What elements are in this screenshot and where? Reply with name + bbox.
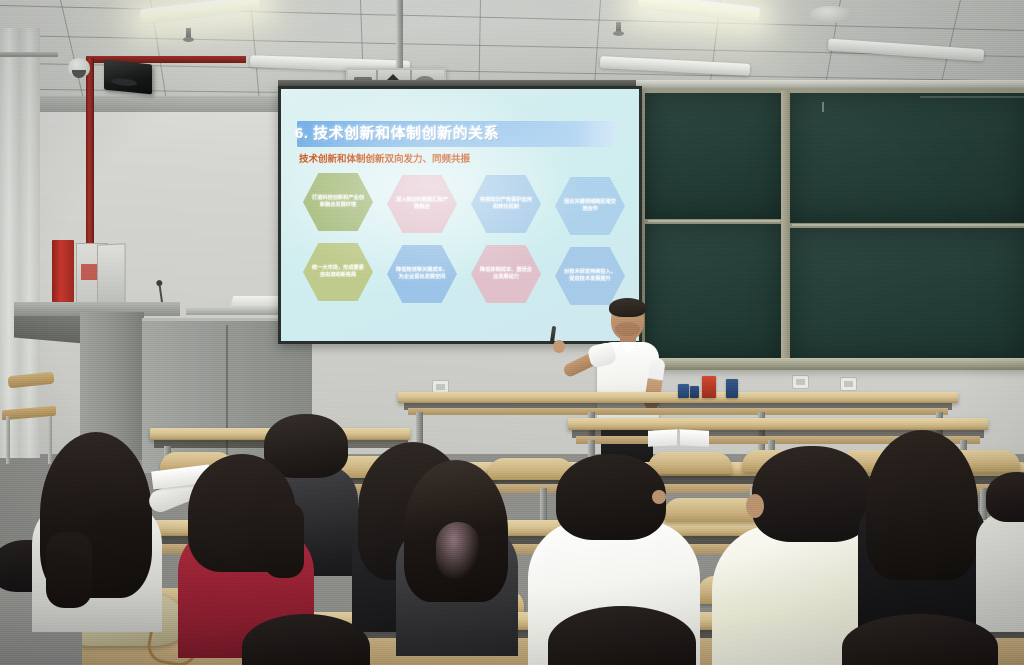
book-navy	[726, 379, 738, 398]
slide-subtitle: 技术创新和体制创新双向发力、同频共振	[299, 151, 470, 165]
ceiling-light-lit	[140, 0, 261, 24]
sprinkler-head	[186, 28, 191, 39]
wall-speaker	[104, 59, 152, 94]
projector-mount-pole	[396, 0, 403, 72]
security-camera-icon	[68, 58, 90, 78]
book-navy-small	[690, 386, 699, 398]
ceiling-dome-fixture	[810, 6, 852, 23]
lecturer-hand	[553, 340, 565, 353]
empty-chair[interactable]	[2, 368, 60, 464]
slide-hexagon-5: 统一大市场，形成要素自由流动新格局	[303, 243, 373, 301]
lecturer-hair	[609, 298, 646, 317]
control-monitor[interactable]	[97, 243, 126, 304]
wall-socket[interactable]	[792, 375, 809, 389]
wall-socket-2[interactable]	[840, 377, 857, 391]
ceiling-light-2	[828, 39, 984, 62]
blackboard-divider-vertical	[781, 91, 790, 361]
ceiling-light-lit-2	[638, 0, 761, 22]
slide-hexagon-7: 降低体制成本、激活企业发展动力	[471, 245, 541, 303]
bench-seat-back-4	[648, 452, 732, 474]
slide-hexagon-1: 打造科技创新和产业创新融合发展环境	[303, 173, 373, 231]
slide-hexagon-2: 深入推动科教融汇和产教融合	[387, 175, 457, 233]
slide-title: 6. 技术创新和体制创新的关系	[295, 119, 625, 149]
book-blue	[678, 384, 689, 398]
open-notebook	[648, 430, 710, 446]
lecturer-face	[615, 322, 640, 336]
sprinkler-head-2	[616, 22, 621, 33]
fire-extinguisher-cabinet	[52, 240, 74, 302]
blackboard-frame	[640, 88, 1024, 370]
book-red	[702, 376, 716, 398]
slide-hexagon-4: 强化关键领域跨区域交流合作	[555, 177, 625, 235]
blackboard-panel-upper-left	[645, 93, 781, 219]
classroom-photo: 6. 技术创新和体制创新的关系 技术创新和体制创新双向发力、同频共振 打造科技创…	[0, 0, 1024, 665]
blackboard-panel-upper-right	[790, 93, 1024, 223]
slide-hexagon-8: 对技术研发持续投入，促进技术发展提升	[555, 247, 625, 305]
slide-hexagon-6: 降低物流等关键成本，为企业留出发展空间	[387, 245, 457, 303]
slide-hexagon-3: 完善知识产权保护运用和转化机制	[471, 175, 541, 233]
blackboard-panel-lower-right	[790, 228, 1024, 360]
